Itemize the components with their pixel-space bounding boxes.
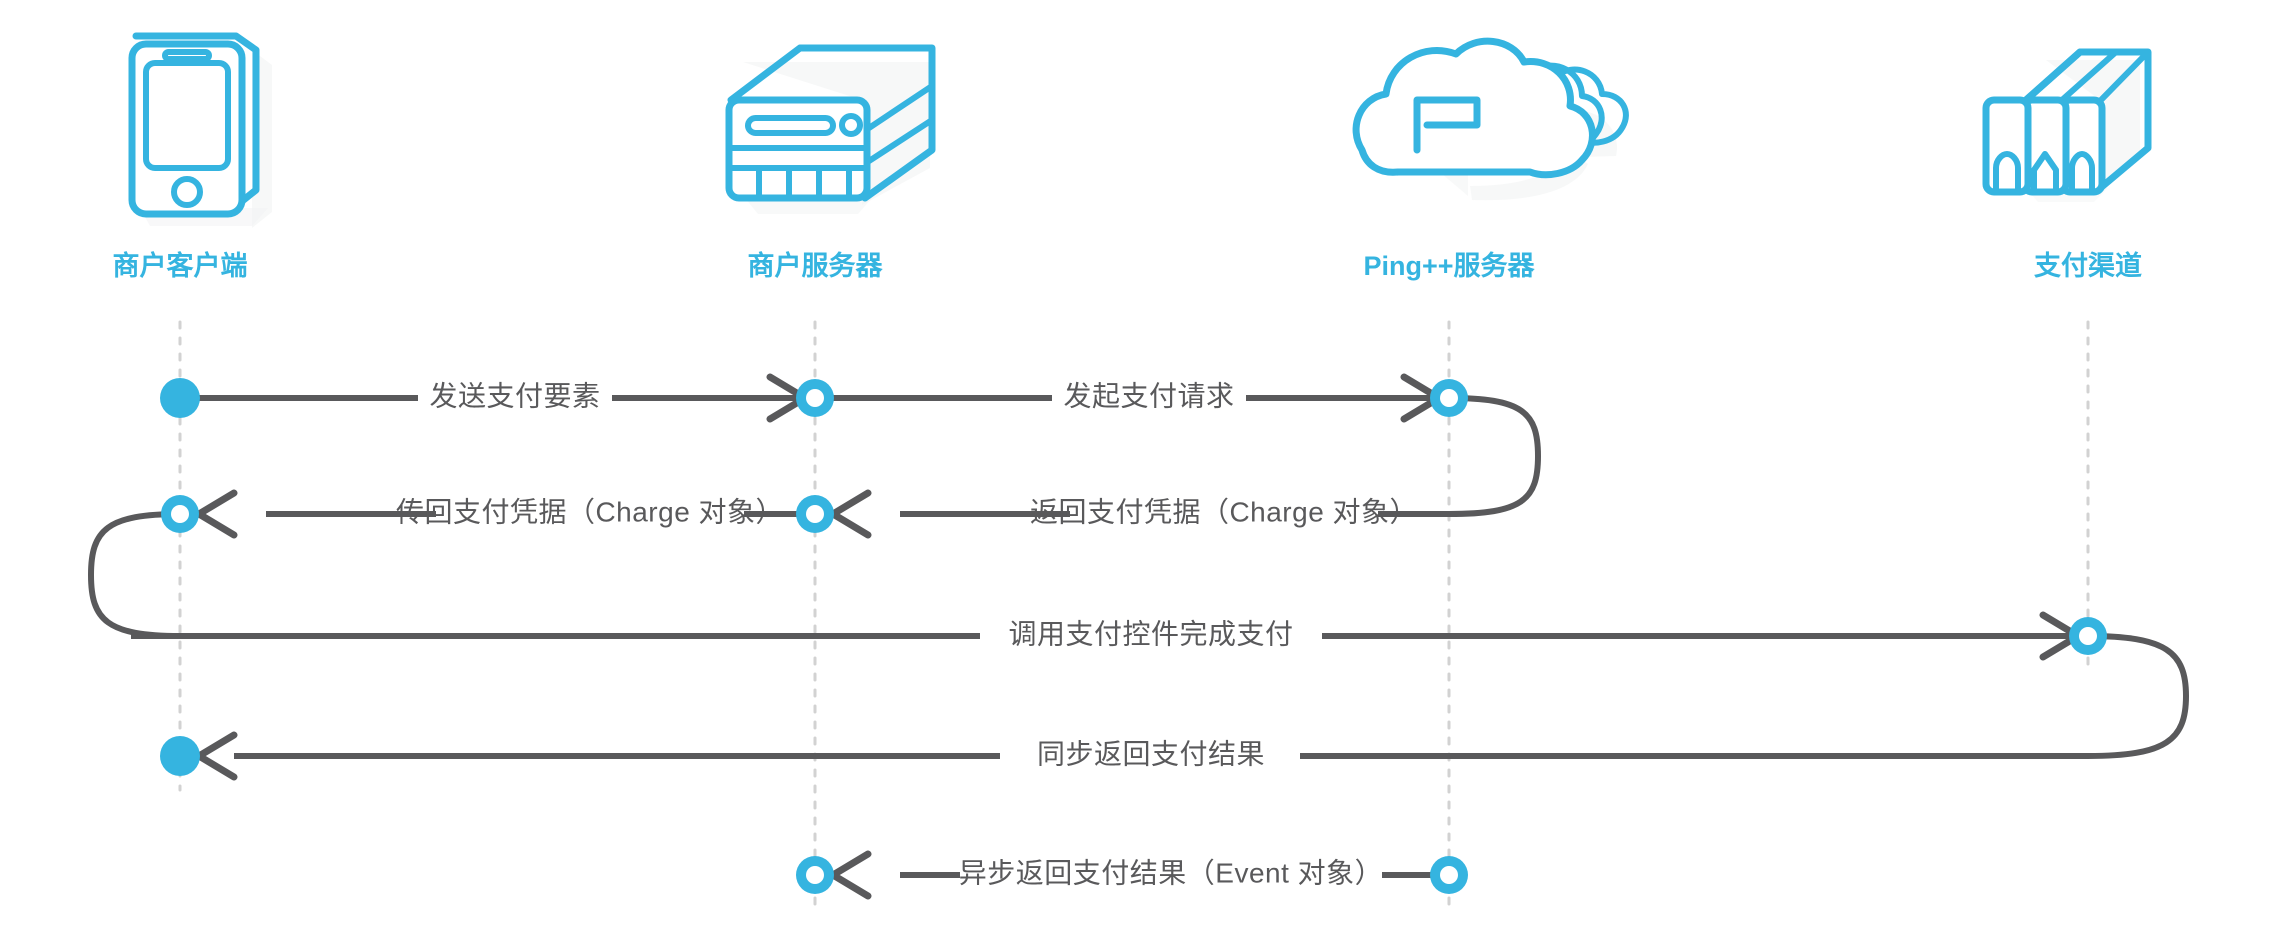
message-pass-back-charge-object: 传回支付凭据（Charge 对象） bbox=[180, 493, 815, 535]
smartphone-icon bbox=[132, 36, 272, 228]
node-client-row4 bbox=[160, 736, 200, 776]
node-inner bbox=[171, 505, 189, 523]
sync-return-curve-channel bbox=[2088, 636, 2186, 756]
node-inner bbox=[1440, 389, 1458, 407]
message-sync-return-payment-result: 同步返回支付结果 bbox=[180, 735, 2088, 777]
message-label: 异步返回支付结果（Event 对象） bbox=[959, 857, 1383, 888]
message-label: 调用支付控件完成支付 bbox=[1008, 618, 1293, 649]
node-client-row1 bbox=[160, 378, 200, 418]
message-label: 返回支付凭据（Charge 对象） bbox=[1030, 496, 1418, 527]
actor-label-client: 商户客户端 bbox=[113, 250, 248, 281]
invoke-curve-client bbox=[91, 514, 180, 636]
message-label: 发送支付要素 bbox=[429, 380, 600, 411]
message-async-return-event-object: 异步返回支付结果（Event 对象） bbox=[815, 854, 1449, 896]
message-label: 同步返回支付结果 bbox=[1037, 738, 1265, 769]
message-send-payment-elements: 发送支付要素 bbox=[180, 377, 815, 419]
actor-label-channel: 支付渠道 bbox=[2034, 250, 2142, 281]
payment-channel-icon bbox=[1986, 52, 2148, 202]
sequence-diagram-svg: 商户客户端 商户服务器 Ping++服务器 支付渠道 发送支付要素 发起支付请求 bbox=[0, 0, 2281, 948]
sequence-diagram-canvas: 商户客户端 商户服务器 Ping++服务器 支付渠道 发送支付要素 发起支付请求 bbox=[0, 0, 2281, 948]
message-invoke-payment-widget: 调用支付控件完成支付 bbox=[131, 615, 2088, 657]
message-label: 传回支付凭据（Charge 对象） bbox=[396, 496, 784, 527]
node-inner bbox=[1440, 866, 1458, 884]
cloud-pingpp-icon bbox=[1356, 41, 1626, 200]
message-label: 发起支付请求 bbox=[1063, 380, 1234, 411]
node-inner bbox=[806, 389, 824, 407]
actor-label-server: 商户服务器 bbox=[748, 250, 884, 281]
node-inner bbox=[2079, 627, 2097, 645]
server-box-icon bbox=[729, 48, 932, 214]
message-initiate-payment-request: 发起支付请求 bbox=[815, 377, 1449, 419]
return-curve-pingpp bbox=[1449, 398, 1538, 514]
message-return-charge-object: 返回支付凭据（Charge 对象） bbox=[815, 493, 1449, 535]
node-inner bbox=[806, 505, 824, 523]
node-inner bbox=[806, 866, 824, 884]
actor-label-pingpp: Ping++服务器 bbox=[1363, 251, 1535, 281]
